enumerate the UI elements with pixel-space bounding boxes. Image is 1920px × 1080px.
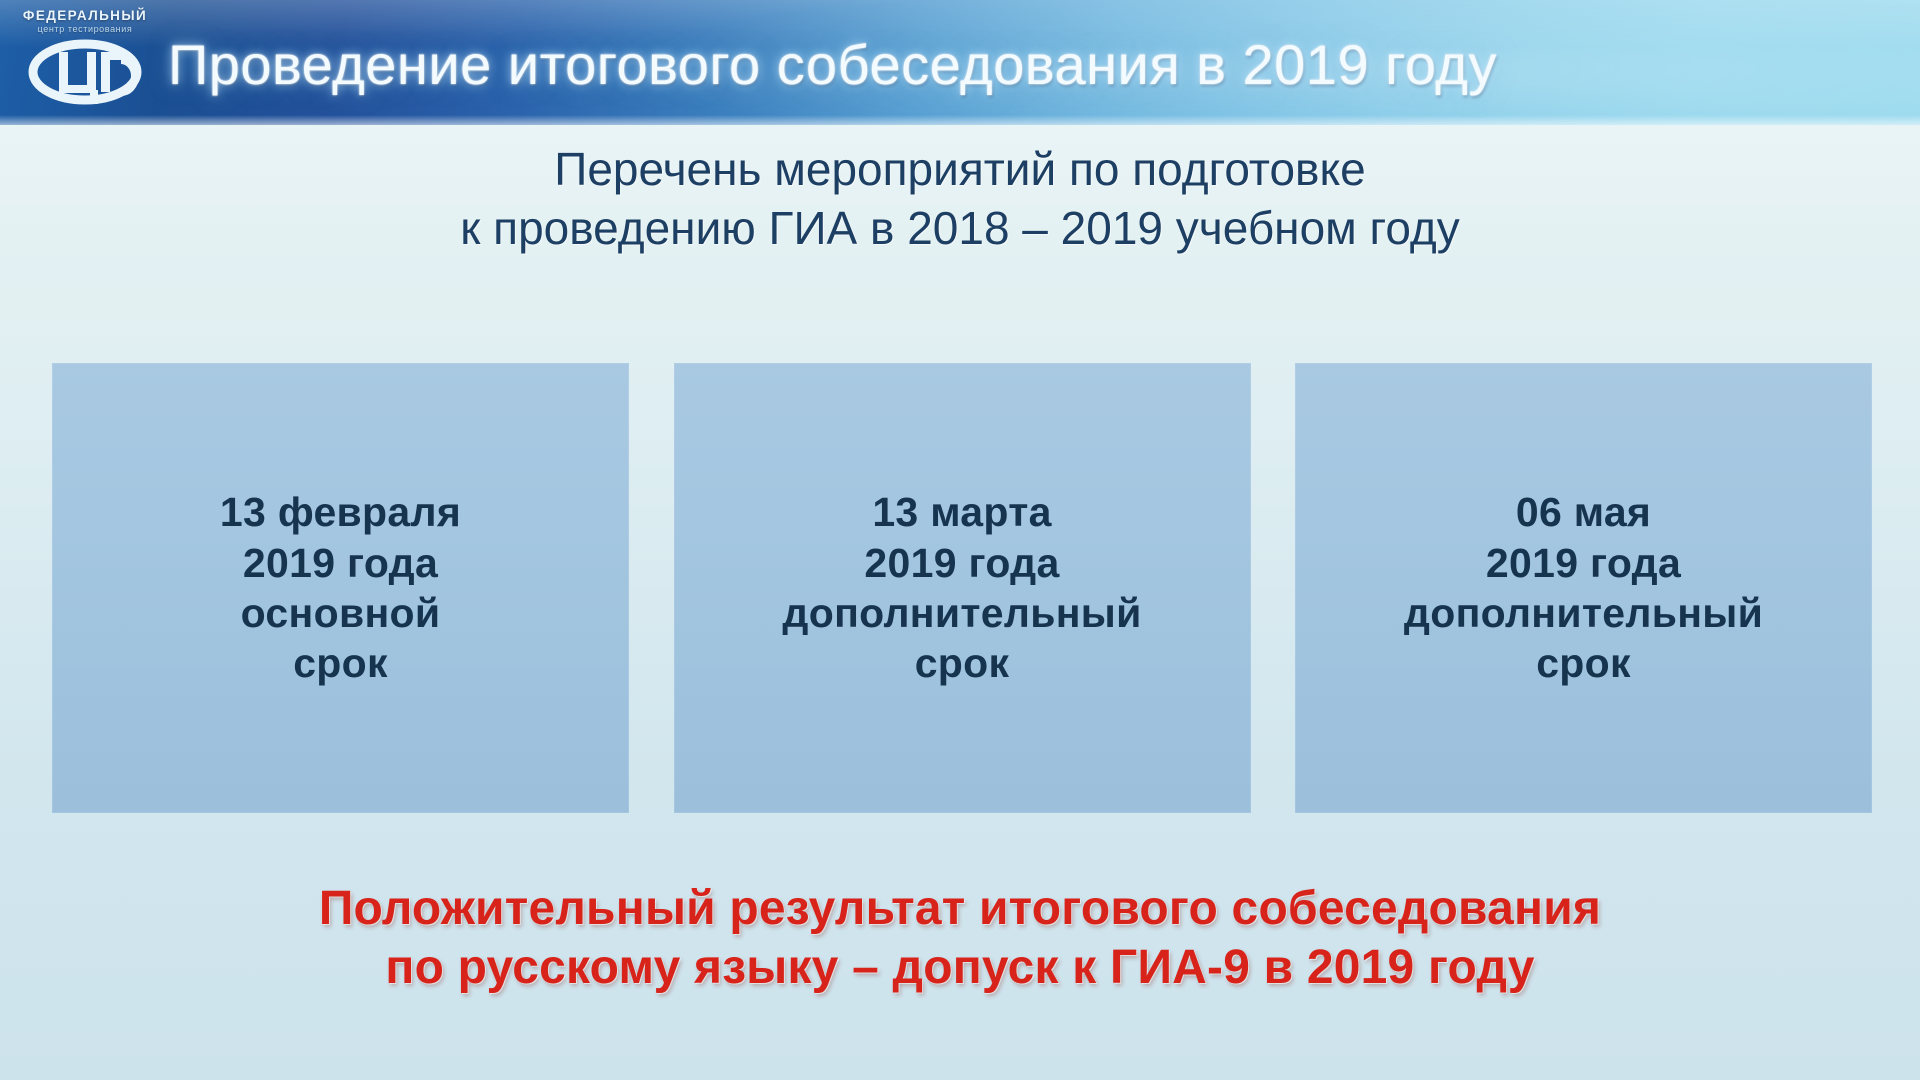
card2-line-1: 13 марта — [782, 487, 1141, 537]
logo-line-federal: ФЕДЕРАЛЬНЫЙ — [23, 8, 147, 23]
date-card-additional-term-may-text: 06 мая 2019 года дополнительный срок — [1394, 487, 1773, 689]
subtitle-line-2: к проведению ГИА в 2018 – 2019 учебном г… — [0, 199, 1920, 258]
organization-logo: ФЕДЕРАЛЬНЫЙ центр тестирования — [10, 4, 160, 116]
slide: ФЕДЕРАЛЬНЫЙ центр тестирования — [0, 0, 1920, 1080]
slide-title: Проведение итогового собеседования в 201… — [168, 18, 1908, 110]
card3-line-1: 06 мая — [1404, 487, 1763, 537]
card3-line-4: срок — [1404, 638, 1763, 688]
logo-monogram-ct-icon — [21, 38, 149, 110]
card1-line-3: основной — [220, 588, 461, 638]
card2-line-3: дополнительный — [782, 588, 1141, 638]
slide-subtitle: Перечень мероприятий по подготовке к про… — [0, 140, 1920, 258]
date-card-main-term-text: 13 февраля 2019 года основной срок — [210, 487, 471, 689]
slide-header-band: ФЕДЕРАЛЬНЫЙ центр тестирования — [0, 0, 1920, 125]
logo-line-testing-center: центр тестирования — [38, 24, 133, 34]
card3-line-3: дополнительный — [1404, 588, 1763, 638]
date-card-additional-term-may: 06 мая 2019 года дополнительный срок — [1295, 363, 1872, 813]
card2-line-2: 2019 года — [782, 538, 1141, 588]
date-card-additional-term-march: 13 марта 2019 года дополнительный срок — [674, 363, 1251, 813]
card3-line-2: 2019 года — [1404, 538, 1763, 588]
card1-line-4: срок — [220, 638, 461, 688]
card1-line-2: 2019 года — [220, 538, 461, 588]
card1-line-1: 13 февраля — [220, 487, 461, 537]
dates-card-row: 13 февраля 2019 года основной срок 13 ма… — [52, 363, 1872, 813]
footer-line-2: по русскому языку – допуск к ГИА-9 в 201… — [0, 939, 1920, 998]
subtitle-line-1: Перечень мероприятий по подготовке — [0, 140, 1920, 199]
date-card-main-term: 13 февраля 2019 года основной срок — [52, 363, 629, 813]
slide-footer-note: Положительный результат итогового собесе… — [0, 880, 1920, 997]
date-card-additional-term-march-text: 13 марта 2019 года дополнительный срок — [772, 487, 1151, 689]
card2-line-4: срок — [782, 638, 1141, 688]
footer-line-1: Положительный результат итогового собесе… — [0, 880, 1920, 939]
